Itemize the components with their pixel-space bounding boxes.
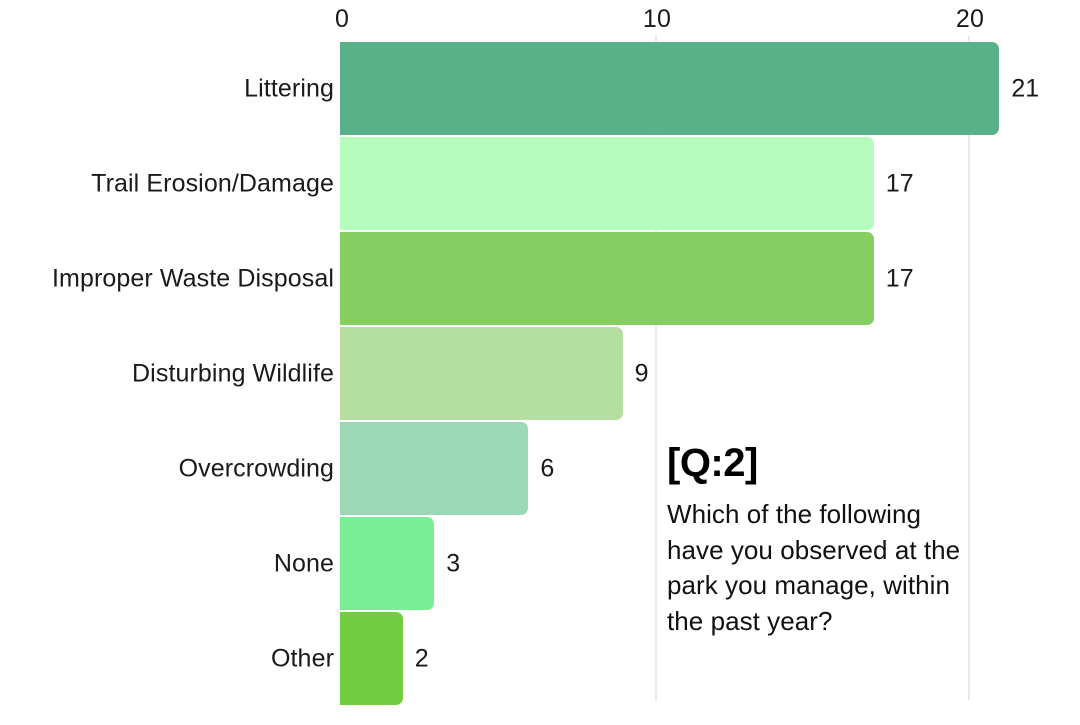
category-label: Trail Erosion/Damage [91, 169, 334, 198]
bar-chart: 0 10 20 Littering 21 Trail Erosion/Damag… [0, 0, 1080, 725]
bar-value-label: 2 [415, 644, 429, 673]
category-label: Disturbing Wildlife [132, 359, 334, 388]
x-axis-tick-label: 20 [956, 5, 984, 34]
category-label: Overcrowding [179, 454, 334, 483]
question-text: Which of the following have you observed… [667, 497, 977, 639]
bar-value-label: 17 [886, 264, 914, 293]
category-label: Other [271, 644, 334, 673]
bar[interactable] [340, 422, 528, 515]
x-axis-tick-label: 0 [335, 5, 349, 34]
bar-value-label: 9 [635, 359, 649, 388]
category-label: Improper Waste Disposal [52, 264, 334, 293]
bar-row: Littering 21 [0, 42, 1080, 135]
bar-value-label: 3 [446, 549, 460, 578]
bar[interactable] [340, 232, 874, 325]
x-axis-tick-label: 10 [643, 5, 671, 34]
bar[interactable] [340, 42, 999, 135]
bar-value-label: 21 [1011, 74, 1039, 103]
bar[interactable] [340, 517, 434, 610]
question-annotation: [Q:2] Which of the following have you ob… [667, 443, 977, 639]
bar-row: Disturbing Wildlife 9 [0, 327, 1080, 420]
bar[interactable] [340, 612, 403, 705]
bar-value-label: 6 [540, 454, 554, 483]
category-label: Littering [244, 74, 334, 103]
bar-row: Improper Waste Disposal 17 [0, 232, 1080, 325]
bar[interactable] [340, 327, 623, 420]
bar-value-label: 17 [886, 169, 914, 198]
question-tag: [Q:2] [667, 443, 977, 483]
bar-row: Trail Erosion/Damage 17 [0, 137, 1080, 230]
bar[interactable] [340, 137, 874, 230]
category-label: None [274, 549, 334, 578]
